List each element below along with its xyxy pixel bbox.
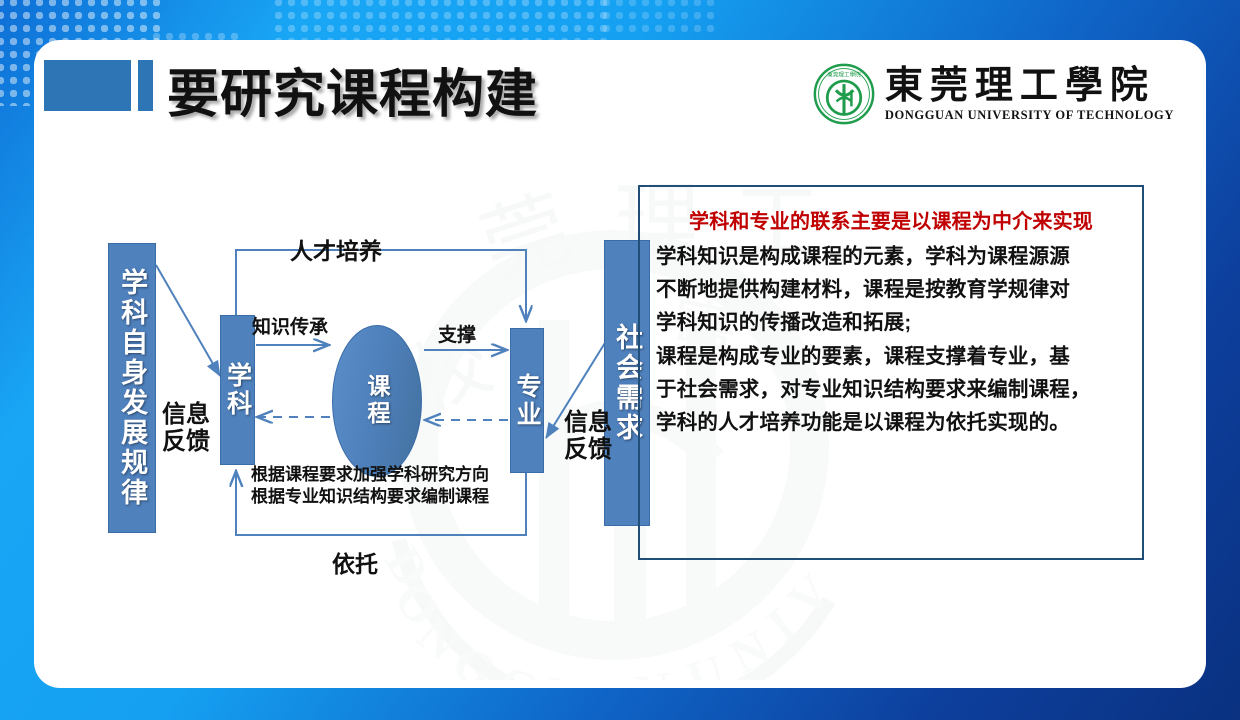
svg-text:N: N — [721, 618, 779, 680]
svg-text:U: U — [680, 643, 732, 680]
label-diagram-note: 根据课程要求加强学科研究方向 根据专业知识结构要求编制课程 — [251, 464, 489, 508]
panel-line: 学科知识是构成课程的元素，学科为课程源源 — [656, 240, 1126, 273]
label-support: 支撑 — [438, 320, 476, 347]
slide-card: 莞 理 工 校 憲 D O N G G U A — [34, 40, 1206, 688]
panel-line: 课程是构成专业的要素，课程支撑着专业，基 — [656, 340, 1126, 373]
title-accent-bar — [138, 60, 153, 111]
node-discipline: 学科 — [220, 315, 255, 465]
label-knowledge-inheritance: 知识传承 — [252, 312, 328, 339]
university-seal-icon: 東莞理工學院 — [813, 63, 875, 125]
relationship-diagram: 学科自身发展规律 学科 课程 专业 社会需求 人才培养 知识传承 支撑 信息 反… — [74, 180, 674, 600]
svg-text:G: G — [490, 654, 546, 680]
logo-chinese-name: 東莞理工學院 — [885, 67, 1155, 105]
node-social-demand-label: 社会需求 — [613, 323, 641, 443]
label-talent-cultivation: 人才培养 — [290, 232, 382, 266]
svg-text:I: I — [756, 597, 806, 653]
logo-english-name: DONGGUAN UNIVERSITY OF TECHNOLOGY — [885, 109, 1174, 122]
node-discipline-label: 学科 — [224, 362, 250, 418]
svg-text:V: V — [776, 563, 841, 628]
panel-line: 学科知识的传播改造和拓展; — [656, 306, 1126, 339]
panel-line: 学科的人才培养功能是以课程为依托实现的。 — [656, 406, 1126, 439]
svg-text:N: N — [407, 606, 471, 672]
label-feedback-left-line1: 信息 — [162, 402, 210, 429]
node-self-development: 学科自身发展规律 — [108, 243, 156, 533]
label-diagram-note-line1: 根据课程要求加强学科研究方向 — [251, 464, 489, 486]
svg-text:G: G — [444, 633, 506, 680]
label-diagram-note-line2: 根据专业知识结构要求编制课程 — [251, 486, 489, 508]
panel-line: 不断地提供构建材料，课程是按教育学规律对 — [656, 273, 1126, 306]
label-feedback-right: 信息 反馈 — [564, 410, 612, 464]
label-feedback-right-line2: 反馈 — [564, 437, 612, 464]
panel-line: 于社会需求，对专业知识结构要求来编制课程， — [656, 373, 1126, 406]
decorative-dot-pattern-mid — [600, 0, 720, 32]
svg-text:A: A — [590, 668, 628, 680]
page-title: 要研究课程构建 — [167, 52, 538, 127]
label-rely-on: 依托 — [332, 545, 378, 579]
label-feedback-right-line1: 信息 — [564, 410, 612, 437]
node-course: 课程 — [332, 325, 422, 477]
explanation-panel: 学科和专业的联系主要是以课程为中介来实现 学科知识是构成课程的元素，学科为课程源… — [638, 185, 1144, 560]
node-self-development-label: 学科自身发展规律 — [118, 268, 146, 508]
node-course-label: 课程 — [360, 374, 394, 428]
title-accent-block — [44, 60, 131, 111]
slide-root: 莞 理 工 校 憲 D O N G G U A — [0, 0, 1240, 720]
label-feedback-left-line2: 反馈 — [162, 429, 210, 456]
decorative-dot-pattern-right — [272, 0, 612, 44]
svg-text:N: N — [632, 660, 676, 680]
panel-heading: 学科和专业的联系主要是以课程为中介来实现 — [656, 205, 1126, 234]
label-feedback-left: 信息 反馈 — [162, 402, 210, 456]
svg-text:U: U — [540, 665, 585, 680]
node-major-label: 专业 — [514, 373, 540, 429]
university-logo: 東莞理工學院 東莞理工學院 DONGGUAN UNIVERSITY OF TEC… — [813, 56, 1174, 132]
node-major: 专业 — [510, 328, 544, 473]
